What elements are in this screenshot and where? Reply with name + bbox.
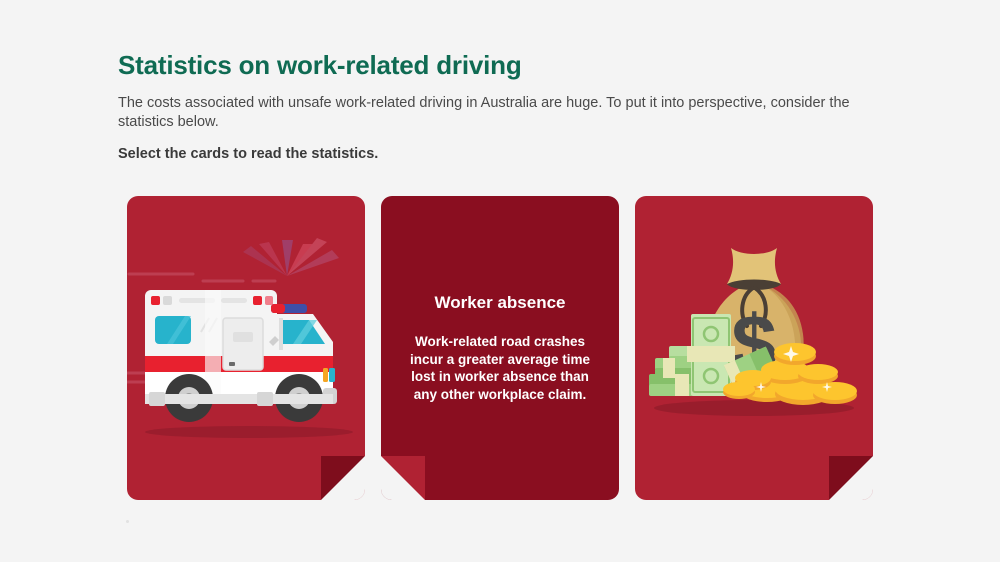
card-corner-fold xyxy=(381,456,425,500)
stat-card-ambulance[interactable] xyxy=(127,196,365,500)
page-title: Statistics on work-related driving xyxy=(118,50,522,81)
card-body-text: Work-related road crashes incur a greate… xyxy=(403,333,597,403)
card-deck: Worker absence Work-related road crashes… xyxy=(127,196,873,500)
slide-root: Statistics on work-related driving The c… xyxy=(0,0,1000,562)
stat-card-money[interactable]: $ xyxy=(635,196,873,500)
card-corner-fold xyxy=(321,456,365,500)
ambulance-illustration xyxy=(127,196,365,500)
money-bag-illustration: $ xyxy=(635,196,873,500)
card-corner-fold xyxy=(829,456,873,500)
card-back-content: Worker absence Work-related road crashes… xyxy=(381,196,619,500)
stat-card-worker-absence[interactable]: Worker absence Work-related road crashes… xyxy=(381,196,619,500)
decorative-dot xyxy=(126,520,129,523)
instruction-text: Select the cards to read the statistics. xyxy=(118,146,378,162)
card-title: Worker absence xyxy=(434,293,565,313)
intro-paragraph: The costs associated with unsafe work-re… xyxy=(118,94,880,132)
